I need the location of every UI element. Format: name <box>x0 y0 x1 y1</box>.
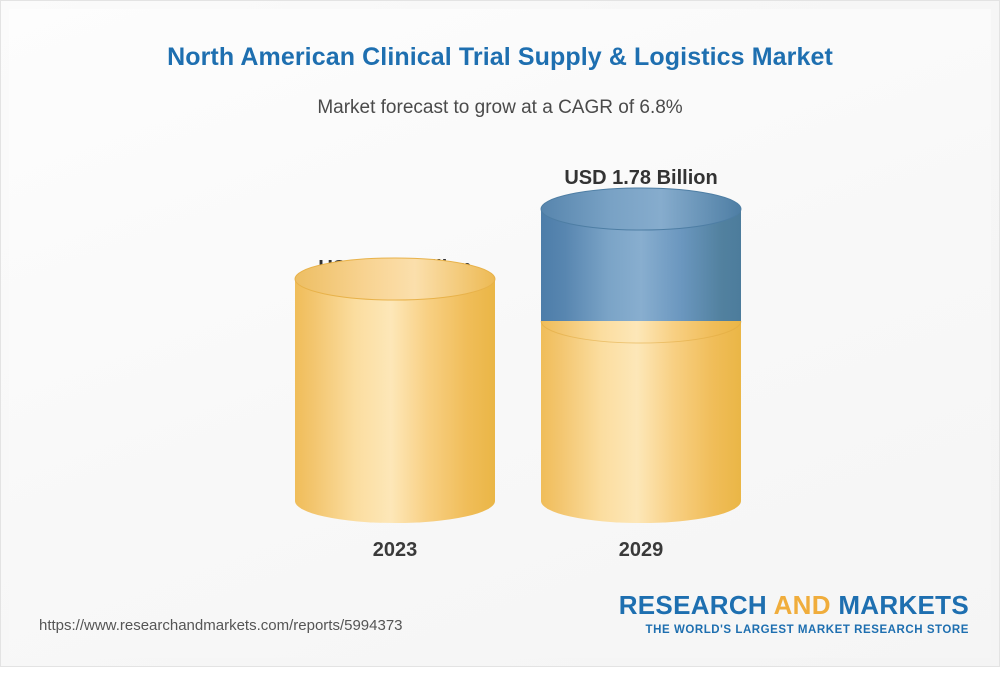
brand-word-and: AND <box>774 590 831 620</box>
brand-logo: RESEARCH AND MARKETS THE WORLD'S LARGEST… <box>619 592 969 637</box>
brand-word-markets: MARKETS <box>831 590 969 620</box>
bar-2023-category-label: 2023 <box>373 539 418 562</box>
brand-word-research: RESEARCH <box>619 590 774 620</box>
chart-plot-area: USD 1.21 Billion <box>9 9 1000 676</box>
brand-tagline: THE WORLD'S LARGEST MARKET RESEARCH STOR… <box>619 625 969 637</box>
bar-2023-cylinder <box>293 257 497 527</box>
brand-wordmark: RESEARCH AND MARKETS <box>619 592 969 618</box>
source-url[interactable]: https://www.researchandmarkets.com/repor… <box>39 617 403 634</box>
bar-2023[interactable]: USD 1.21 Billion <box>293 257 497 557</box>
bar-2029-category-label: 2029 <box>619 539 664 562</box>
bar-2029-cylinder <box>539 167 743 527</box>
bar-2029[interactable]: USD 1.78 Billion 2029 <box>539 167 743 557</box>
chart-page: North American Clinical Trial Supply & L… <box>0 0 1000 667</box>
chart-canvas: North American Clinical Trial Supply & L… <box>9 9 991 658</box>
